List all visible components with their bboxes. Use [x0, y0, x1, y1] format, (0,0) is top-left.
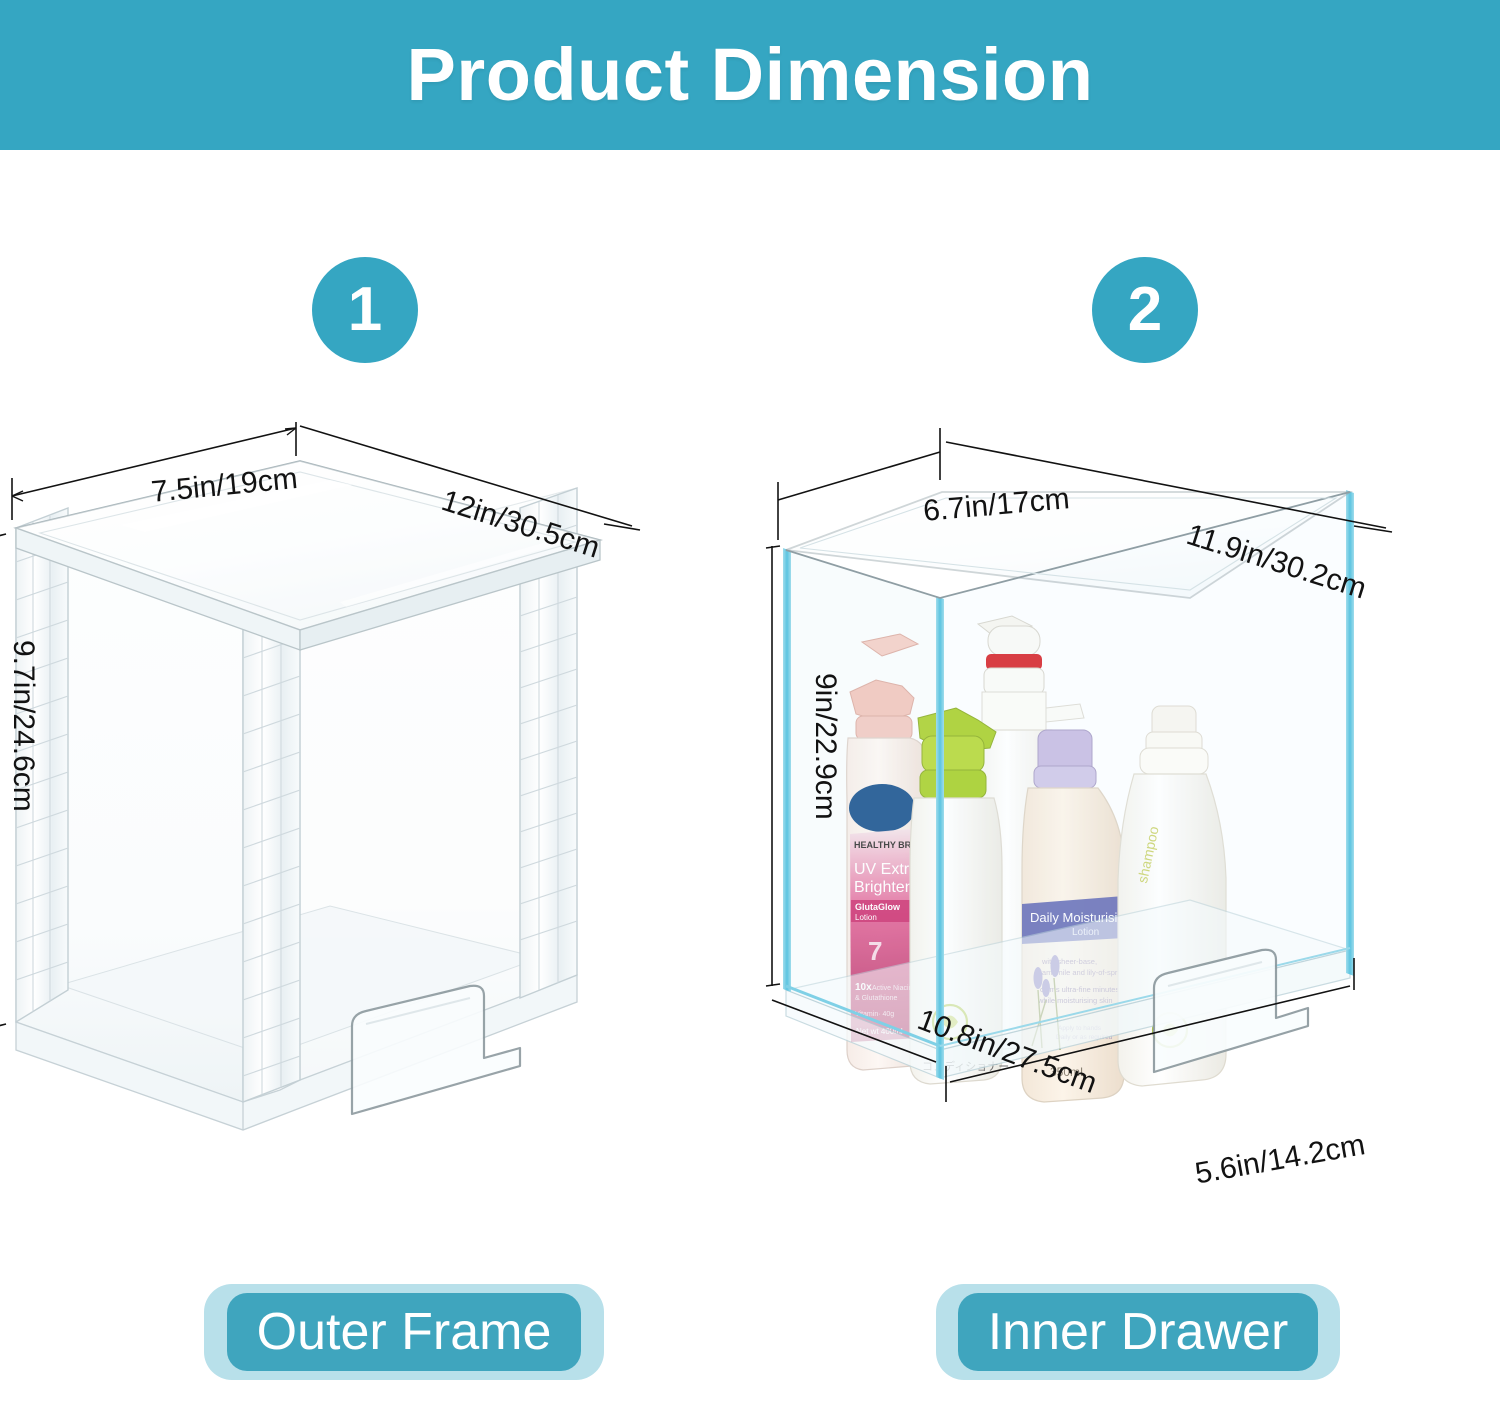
inner-drawer-illustration: HEALTHY BRIGHT™ UV Extra Brightening Glu… [750, 430, 1500, 1220]
inner-drawer-caption-pill: Inner Drawer [958, 1293, 1319, 1371]
inner-drawer-caption: Inner Drawer [936, 1284, 1340, 1380]
step-badge-1-label: 1 [348, 279, 382, 341]
outer-frame-illustration [0, 430, 750, 1220]
outer-frame-height-label: 9.7in/24.6cm [8, 640, 38, 812]
step-badge-2: 2 [1092, 257, 1198, 363]
step-badge-1: 1 [312, 257, 418, 363]
inner-drawer-height-label: 9in/22.9cm [810, 673, 840, 820]
page-title: Product Dimension [407, 38, 1094, 112]
outer-frame-caption-label: Outer Frame [257, 1306, 552, 1358]
outer-frame-caption: Outer Frame [204, 1284, 604, 1380]
step-badge-2-label: 2 [1128, 279, 1162, 341]
outer-frame-caption-pill: Outer Frame [227, 1293, 582, 1371]
inner-drawer-caption-label: Inner Drawer [988, 1306, 1289, 1358]
page-header: Product Dimension [0, 0, 1500, 150]
